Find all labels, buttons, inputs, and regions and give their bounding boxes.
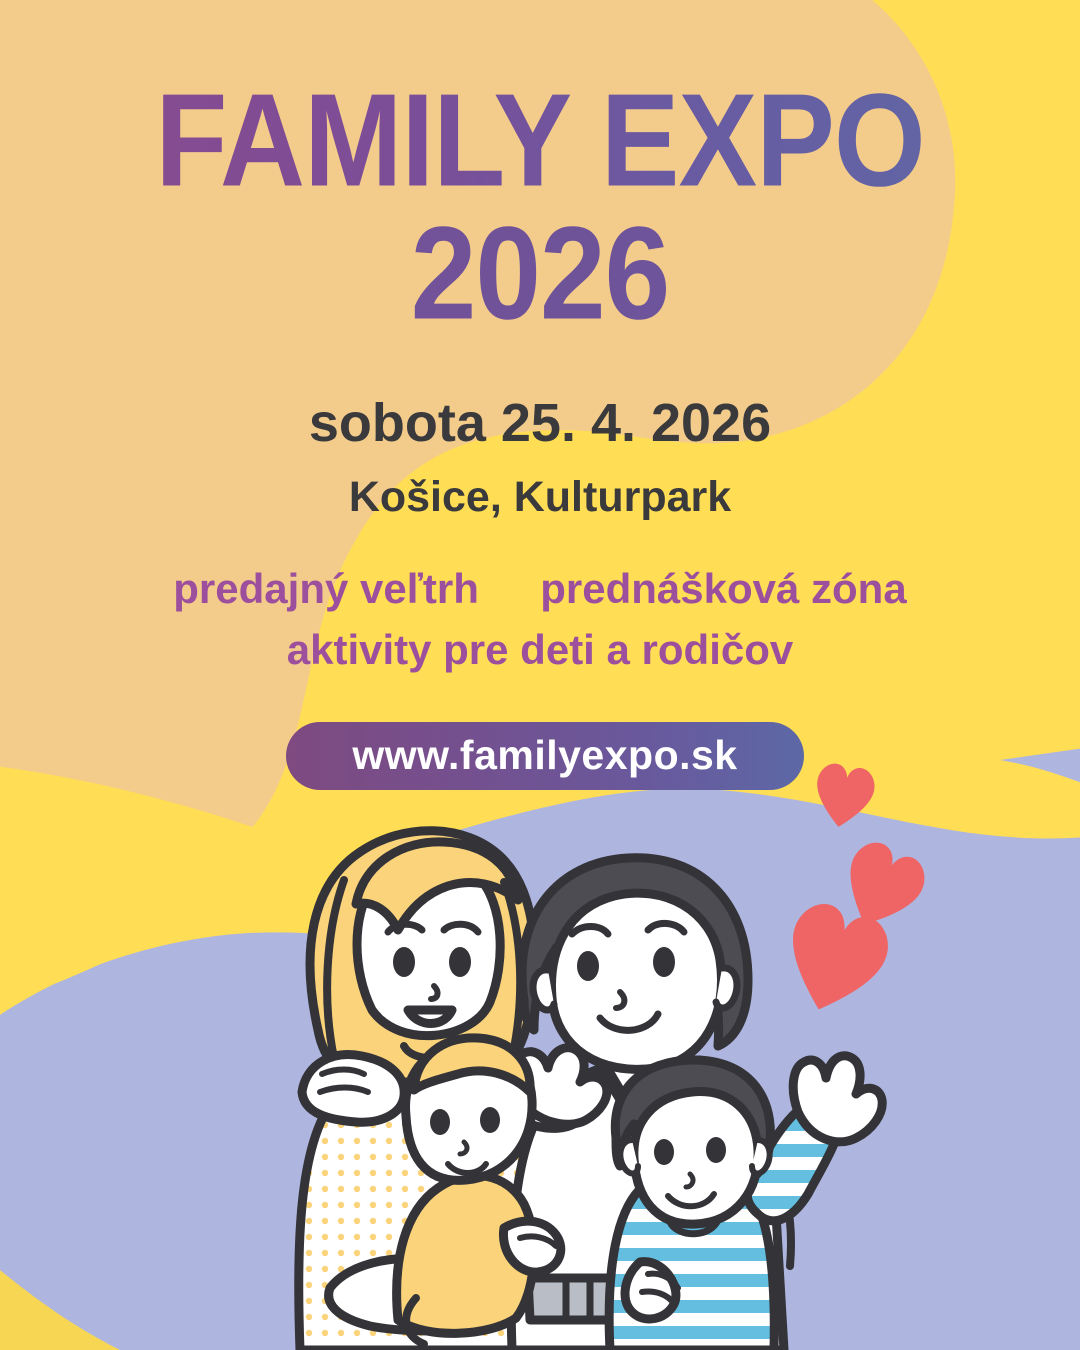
poster-title: FAMILY EXPO 2026 xyxy=(0,78,1080,325)
feature-item-2: aktivity pre deti a rodičov xyxy=(0,626,1080,674)
event-date: sobota 25. 4. 2026 xyxy=(0,392,1080,454)
poster-canvas: FAMILY EXPO 2026 sobota 25. 4. 2026 Koši… xyxy=(0,0,1080,1350)
feature-item-0: predajný veľtrh xyxy=(173,565,479,613)
title-line-2: 2026 xyxy=(0,211,1080,338)
feature-item-1: prednášková zóna xyxy=(540,565,906,613)
event-location: Košice, Kulturpark xyxy=(0,473,1080,522)
website-label: www.familyexpo.sk xyxy=(352,735,737,776)
poster-content: FAMILY EXPO 2026 sobota 25. 4. 2026 Koši… xyxy=(0,0,1080,1350)
website-button[interactable]: www.familyexpo.sk xyxy=(286,722,804,790)
title-line-1: FAMILY EXPO xyxy=(0,78,1080,205)
feature-line-1: predajný veľtrh prednášková zóna xyxy=(0,565,1080,613)
